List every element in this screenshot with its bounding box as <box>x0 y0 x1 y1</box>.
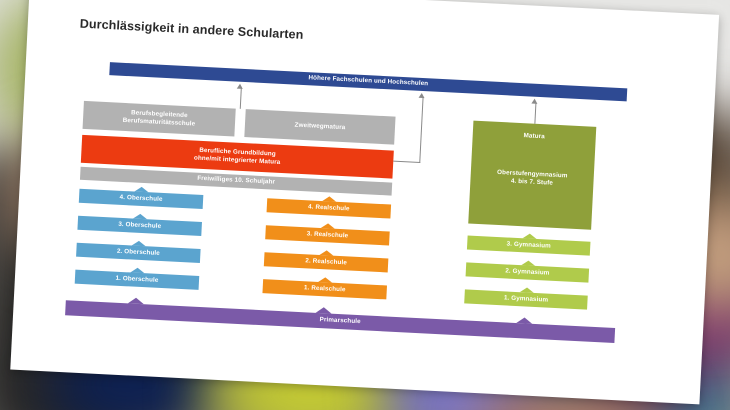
gymnasium-level-1: 1. Gymnasium <box>464 289 588 309</box>
arrow-notch-icon <box>521 260 535 266</box>
arrow-head-bbs <box>237 84 243 89</box>
oberschule-level-4: 4. Oberschule <box>79 189 204 209</box>
gymnasium-level-3-label: 3. Gymnasium <box>506 240 551 251</box>
realschule-level-2: 2. Realschule <box>264 252 389 272</box>
realschule-level-1-label: 1. Realschule <box>304 284 346 294</box>
tertiary-education-label: Höhere Fachschulen und Hochschulen <box>308 75 428 89</box>
arrow-notch-icon <box>516 317 532 324</box>
realschule-level-3: 3. Realschule <box>265 225 390 245</box>
tertiary-education-bar: Höhere Fachschulen und Hochschulen <box>109 62 627 101</box>
arrow-notch-icon <box>318 277 332 283</box>
gymnasium-level-2: 2. Gymnasium <box>466 262 590 282</box>
oberschule-level-3-label: 3. Oberschule <box>118 221 161 231</box>
arrow-shaft-bbs <box>240 88 242 109</box>
arrow-head-matura <box>532 99 538 104</box>
oberschule-level-1-label: 1. Oberschule <box>115 275 158 285</box>
gymnasium-level-1-label: 1. Gymnasium <box>504 294 549 305</box>
arrow-notch-icon <box>130 267 144 273</box>
arrow-notch-icon <box>319 250 333 256</box>
arrow-head-grundbildung <box>419 93 425 98</box>
oberschule-level-4-label: 4. Oberschule <box>119 194 162 204</box>
arrow-notch-icon <box>134 187 148 193</box>
oberstufengymnasium-sublabel: Oberstufengymnasium 4. bis 7. Stufe <box>470 168 594 191</box>
oberschule-level-2: 2. Oberschule <box>76 243 201 263</box>
education-pathway-diagram: Höhere Fachschulen und Hochschulen Beruf… <box>64 61 647 359</box>
arrow-notch-icon <box>133 214 147 220</box>
arrow-shaft-matura <box>534 103 536 124</box>
page-title: Durchlässigkeit in andere Schularten <box>80 17 304 42</box>
zweitwegmatura-box: Zweitwegmatura <box>244 109 395 145</box>
oberschule-level-1: 1. Oberschule <box>75 270 200 290</box>
arrow-notch-icon <box>316 307 332 314</box>
oberschule-level-2-label: 2. Oberschule <box>117 248 160 258</box>
arrow-notch-icon <box>519 287 533 293</box>
berufsmaturitaetsschule-box: Berufsbegleitende Berufsmaturitätsschule <box>83 101 236 137</box>
arrow-notch-icon <box>322 196 336 202</box>
gymnasium-level-3: 3. Gymnasium <box>467 235 591 255</box>
slide-card: Durchlässigkeit in andere Schularten Höh… <box>10 0 719 404</box>
arrow-notch-icon <box>522 233 536 239</box>
primarschule-label: Primarschule <box>319 316 360 326</box>
schuljahr-label: Freiwilliges 10. Schuljahr <box>197 175 275 187</box>
zweitwegmatura-label: Zweitwegmatura <box>294 121 345 132</box>
arrow-notch-icon <box>321 223 335 229</box>
oberschule-level-3: 3. Oberschule <box>77 216 202 236</box>
realschule-level-4-label: 4. Realschule <box>308 203 350 213</box>
oberstufengymnasium-box: Matura Oberstufengymnasium 4. bis 7. Stu… <box>468 121 596 230</box>
realschule-level-2-label: 2. Realschule <box>305 257 347 267</box>
arrow-elbow-grundbildung <box>393 161 420 163</box>
gymnasium-level-2-label: 2. Gymnasium <box>505 267 550 278</box>
arrow-notch-icon <box>132 240 146 246</box>
realschule-level-4: 4. Realschule <box>267 198 392 218</box>
matura-label: Matura <box>473 130 596 145</box>
arrow-notch-icon <box>128 297 144 304</box>
realschule-level-3-label: 3. Realschule <box>306 230 348 240</box>
arrow-shaft-grundbildung <box>419 97 423 163</box>
realschule-level-1: 1. Realschule <box>262 279 387 299</box>
